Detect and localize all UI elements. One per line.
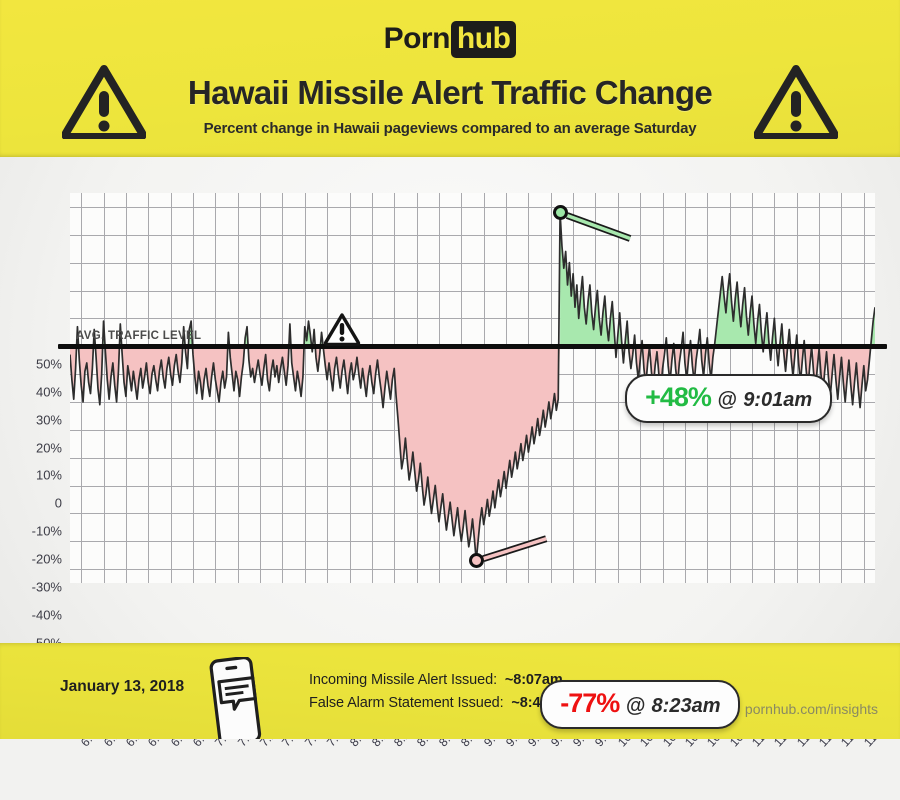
peak-at-symbol: @ (717, 389, 737, 411)
y-axis-tick-label: 0 (55, 496, 62, 511)
y-axis-tick-label: 30% (36, 412, 62, 427)
y-axis-tick-label: -30% (32, 579, 62, 594)
peak-value: +48% (645, 382, 711, 412)
trough-data-marker (469, 553, 484, 568)
chart-panel: AVG. TRAFFIC LEVEL 50%40%30%20%10%0-10%-… (0, 157, 900, 643)
footer-date: January 13, 2018 (60, 678, 184, 696)
y-axis-tick-label: 40% (36, 384, 62, 399)
y-axis-tick-label: 50% (36, 356, 62, 371)
footer-falsealarm-label: False Alarm Statement Issued: (309, 695, 504, 711)
warning-triangle-icon (62, 63, 146, 139)
y-axis-tick-label: -40% (32, 607, 62, 622)
footer-event-list: Incoming Missile Alert Issued: ~8:07am F… (309, 672, 569, 718)
footer-url: pornhub.com/insights (745, 701, 878, 717)
peak-callout: +48% @ 9:01am (625, 374, 832, 423)
footer-banner: January 13, 2018 Incoming Missile Alert … (0, 643, 900, 739)
trough-value: -77% (560, 688, 619, 718)
x-axis-labels: 6:096:196:296:396:496:597:097:197:297:39… (70, 740, 875, 798)
y-axis-tick-label: 10% (36, 468, 62, 483)
phone-message-icon (206, 657, 264, 739)
footer-line-alert: Incoming Missile Alert Issued: ~8:07am (309, 672, 569, 688)
peak-data-marker (553, 205, 568, 220)
y-axis-tick-label: -20% (32, 551, 62, 566)
trough-at-symbol: @ (626, 695, 646, 717)
pornhub-logo: Pornhub (0, 24, 900, 54)
header-banner: Pornhub Hawaii Missile Alert Traffic Cha… (0, 0, 900, 157)
infographic-root: Pornhub Hawaii Missile Alert Traffic Cha… (0, 0, 900, 739)
peak-time: 9:01am (743, 389, 812, 411)
logo-porn-text: Porn (384, 22, 450, 55)
warning-triangle-icon (323, 312, 361, 346)
trough-callout: -77% @ 8:23am (540, 680, 740, 729)
footer-line-falsealarm: False Alarm Statement Issued: ~8:45am (309, 695, 569, 711)
logo-hub-text: hub (451, 21, 516, 58)
y-axis-tick-label: -10% (32, 524, 62, 539)
footer-alert-label: Incoming Missile Alert Issued: (309, 672, 497, 688)
warning-triangle-icon (754, 63, 838, 139)
trough-time: 8:23am (652, 695, 721, 717)
y-axis-tick-label: 20% (36, 440, 62, 455)
